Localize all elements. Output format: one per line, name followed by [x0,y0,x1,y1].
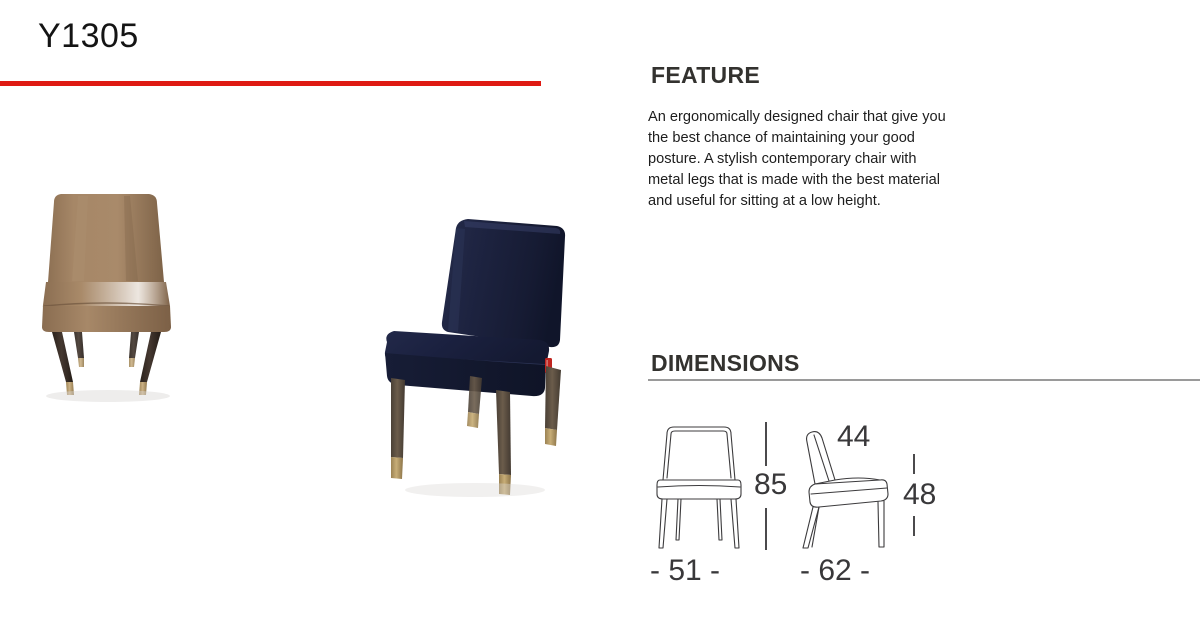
seat-height-guide-tick-bottom [913,516,915,536]
navy-chair-leg-back-left [468,376,482,414]
brown-chair-leg-front-right [140,332,161,382]
height-guide-tick-bottom [765,508,767,550]
navy-chair-photo [360,190,595,505]
dimensions-rule [648,379,1200,381]
dimension-width: - 51 - [650,556,720,586]
navy-chair-leg-front-left [391,378,405,458]
brown-chair-leg-back-left [74,332,84,358]
brown-chair-foot-cap-back-left [78,358,84,367]
chair-front-elevation-drawing [648,418,750,553]
dimension-seat-depth: 44 [837,422,870,452]
dimensions-diagram: 85 44 48 - 51 - - 62 - [640,408,970,598]
feature-description: An ergonomically designed chair that giv… [648,107,954,212]
dimension-seat-height: 48 [903,480,936,510]
page-title: Y1305 [38,19,139,53]
navy-chair-foot-cap-back-left [467,412,479,428]
dimension-total-height: 85 [754,470,787,500]
feature-heading: FEATURE [651,62,760,89]
brown-chair-seat-rail [42,306,171,332]
navy-chair-leg-back-right [545,366,561,430]
dimension-depth: - 62 - [800,556,870,586]
height-guide-tick-top [765,422,767,466]
dimensions-heading: DIMENSIONS [651,350,800,377]
brown-chair-photo [18,186,208,406]
navy-chair-leg-front-right [496,390,511,475]
navy-chair-foot-cap-back-right [545,428,557,446]
brown-chair-backrest [48,194,164,282]
seat-height-guide-tick-top [913,454,915,474]
title-accent-rule [0,81,541,86]
brown-chair-leg-front-left [52,332,73,382]
navy-chair-foot-cap-front-left [391,457,403,479]
brown-chair-leg-back-right [129,332,139,358]
brown-chair-foot-cap-back-right [129,358,135,367]
